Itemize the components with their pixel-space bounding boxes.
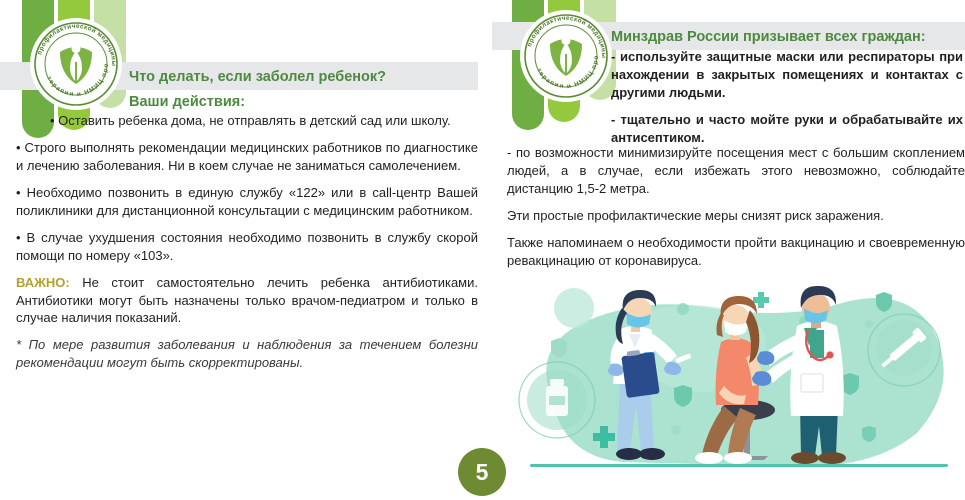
left-column-subheading: Ваши действия: xyxy=(129,94,245,110)
vaccination-illustration xyxy=(512,278,965,488)
paragraph: Также напоминаем о необходимости пройти … xyxy=(507,234,965,270)
important-text: Не стоит самостоятельно лечить ребенка а… xyxy=(16,275,478,326)
important-note: ВАЖНО: Не стоит самостоятельно лечить ре… xyxy=(16,274,478,328)
leaflet-page: профилактической медицины терапии и НМИЦ… xyxy=(0,0,965,500)
paragraph: Эти простые профилактические меры снизят… xyxy=(507,207,965,225)
organization-logo-icon: профилактической медицины терапии и НМИЦ… xyxy=(30,18,122,110)
bullet-item: - тщательно и часто мойте руки и обрабат… xyxy=(611,111,963,147)
bullet-item: • В случае ухудшения состояния необходим… xyxy=(16,229,478,265)
bullet-item: • Строго выполнять рекомендации медицинс… xyxy=(16,139,478,175)
left-column-title: Что делать, если заболел ребенок? xyxy=(129,69,386,85)
page-number-badge: 5 xyxy=(458,448,506,496)
paragraph: - по возможности минимизируйте посещения… xyxy=(507,144,965,198)
right-column-bold-list: - используйте защитные маски или респира… xyxy=(611,48,963,156)
right-column-body: - по возможности минимизируйте посещения… xyxy=(507,144,965,279)
right-column-title: Минздрав России призывает всех граждан: xyxy=(611,29,926,45)
bullet-item: - используйте защитные маски или респира… xyxy=(611,48,963,102)
important-label: ВАЖНО: xyxy=(16,275,70,290)
organization-logo-icon: профилактической медицины терапии и НМИЦ… xyxy=(520,10,612,102)
bullet-item: • Необходимо позвонить в единую службу «… xyxy=(16,184,478,220)
left-column-body: • Оставить ребенка дома, не отправлять в… xyxy=(16,112,478,381)
bullet-item: • Оставить ребенка дома, не отправлять в… xyxy=(16,112,478,130)
footnote: * По мере развития заболевания и наблюде… xyxy=(16,336,478,372)
